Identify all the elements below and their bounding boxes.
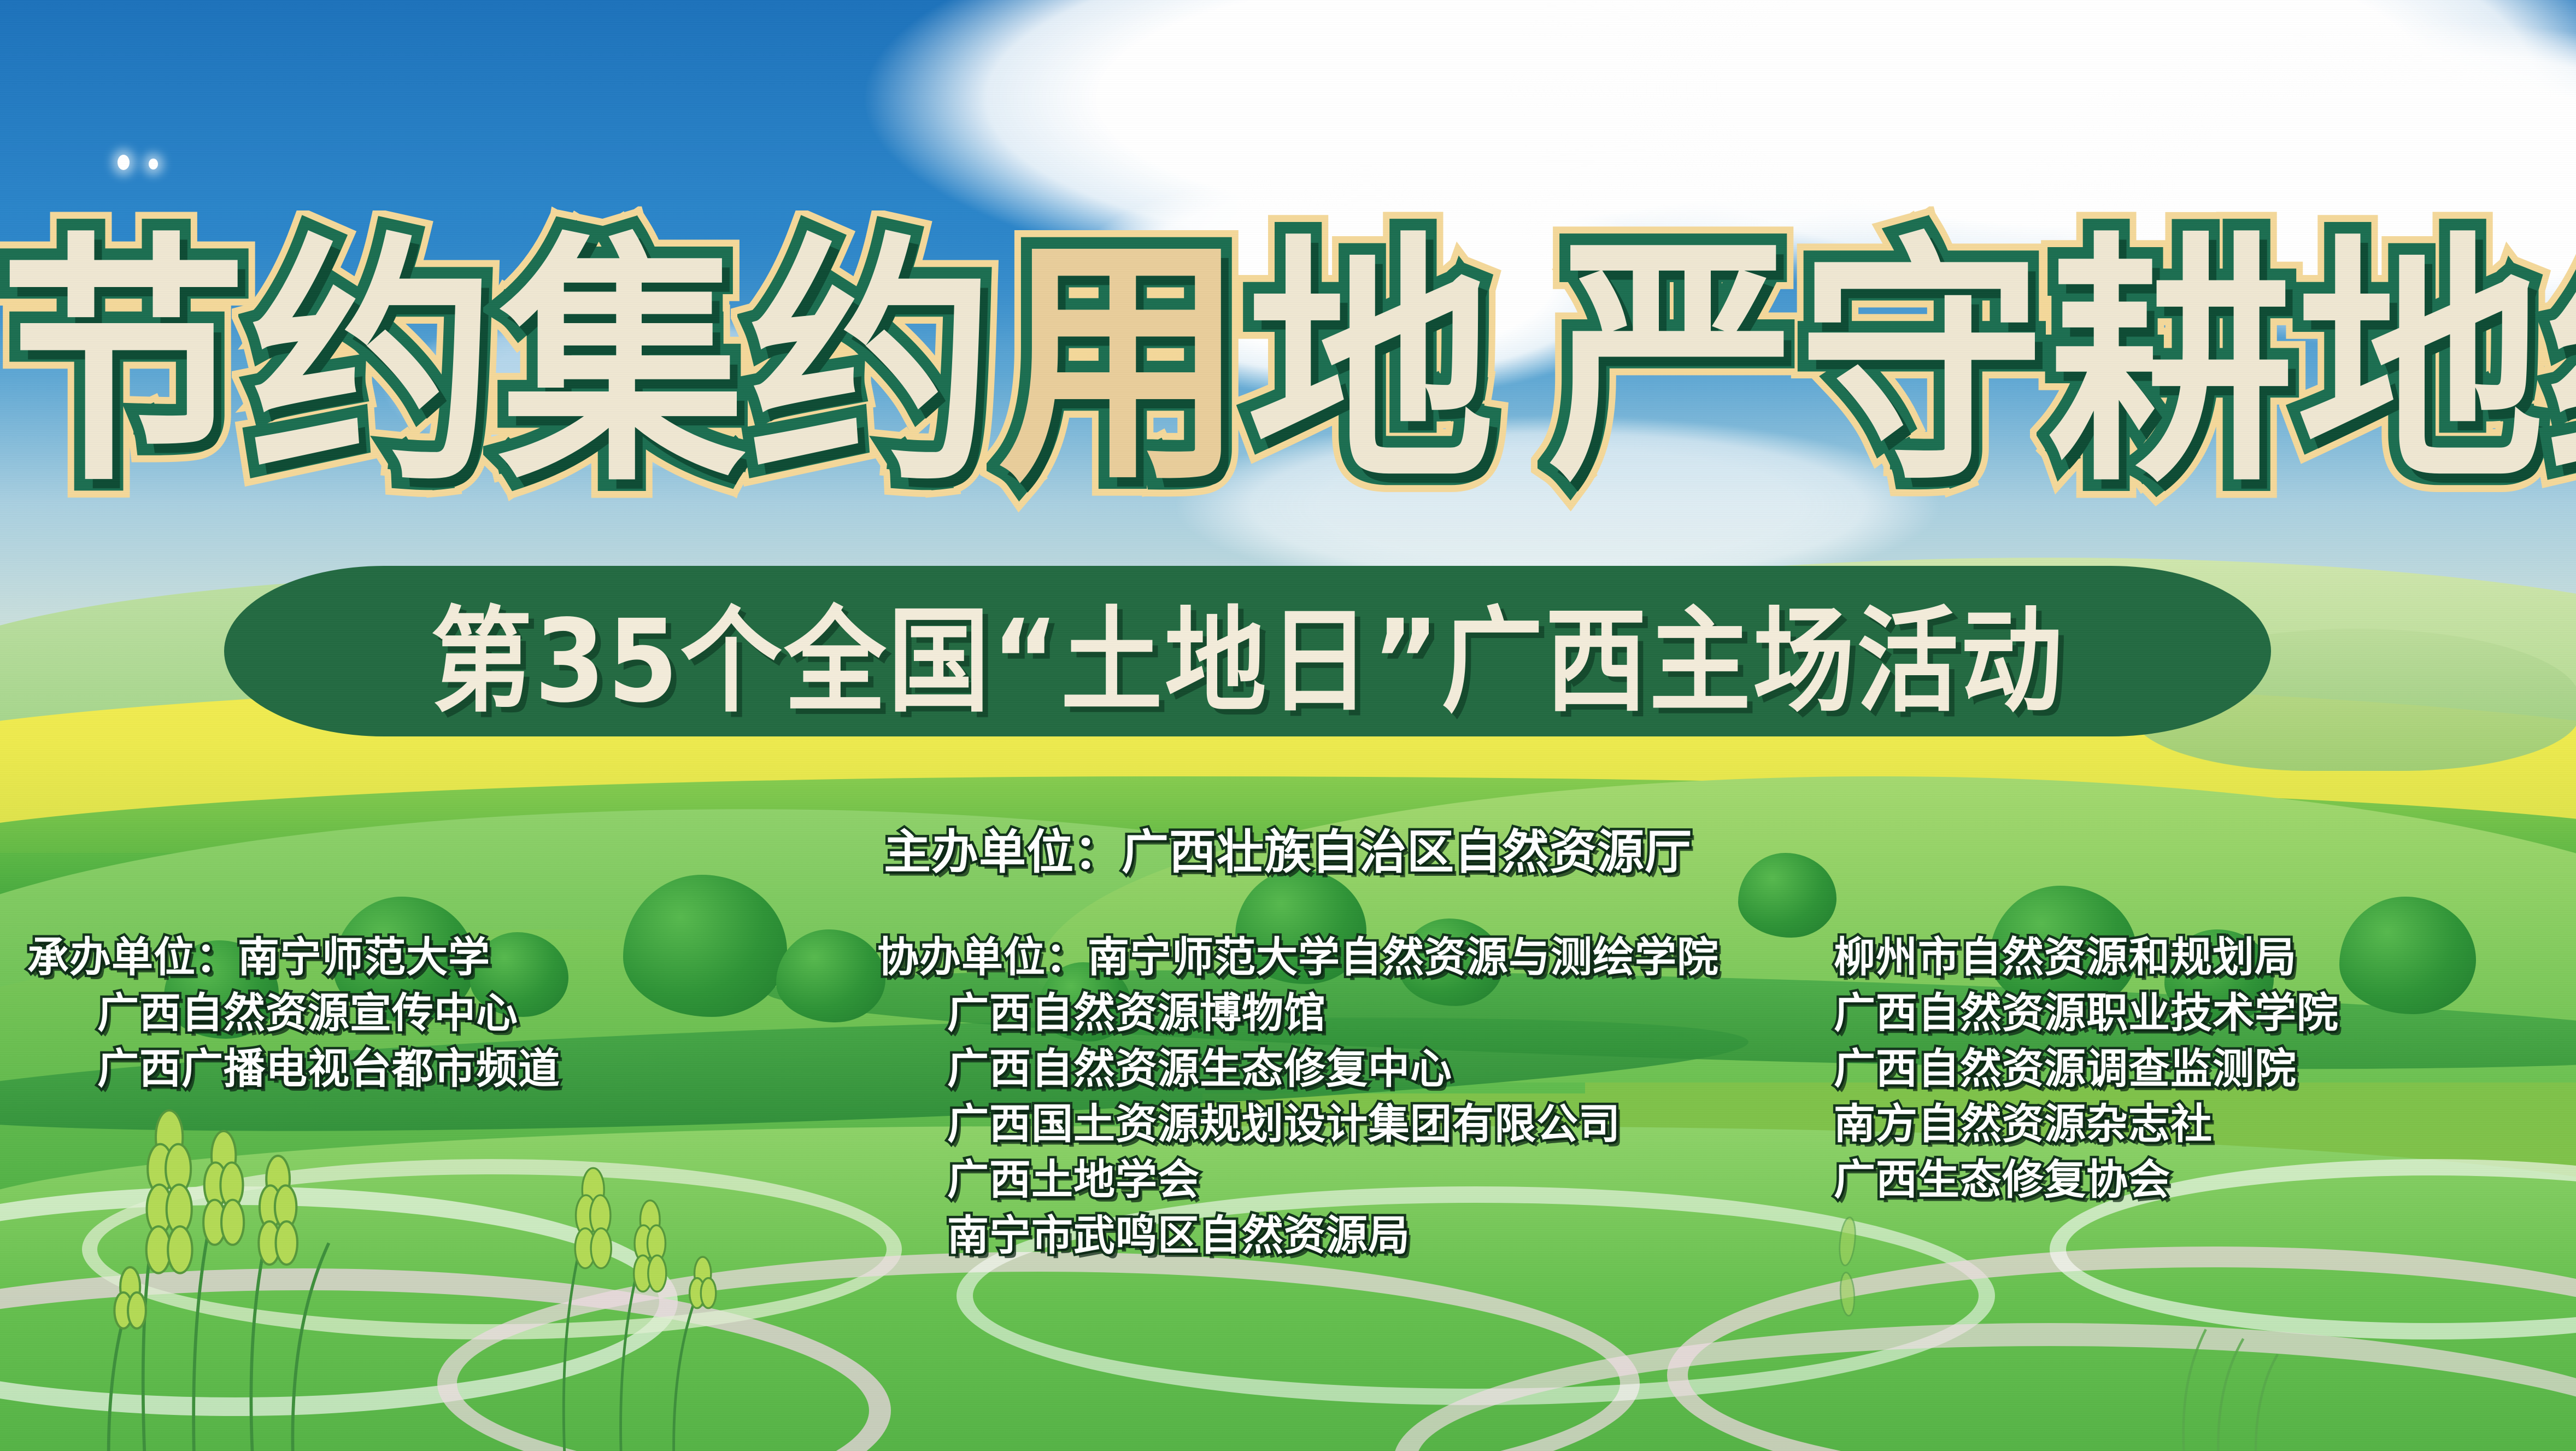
title-char-glyph-11: 红 [2546,233,2576,495]
co-organizer-right-line-1: 广西自然资源职业技术学院 [1834,985,2339,1041]
wheat-stalks-midleft [415,1115,842,1451]
subtitle-text: 第35个全国“土地日”广西主场活动 [431,569,2064,734]
title-char-3: 约 约 [748,241,995,488]
poster-canvas: 节 节 约 约 集 集 约 约 用 用 地 地 严 严 守 守 [0,0,2576,1451]
subtitle-banner: 第35个全国“土地日”广西主场活动 [224,566,2271,736]
grass-blades-right [2050,1236,2399,1451]
organizer-line-2: 广西广播电视台都市频道 [27,1041,560,1097]
title-char-4: 用 用 [998,241,1245,488]
title-char-glyph-8: 守 [1798,233,2045,495]
title-char-glyph-5: 地 [1247,233,1494,495]
title-char-11: 红 红 [2546,241,2576,488]
co-organizer-right-line-4: 广西生态修复协会 [1834,1152,2339,1208]
title-char-glyph-0: 节 [0,233,247,495]
co-organizer-column: 协办单位：南宁师范大学自然资源与测绘学院 广西自然资源博物馆 广西自然资源生态修… [877,929,1719,1263]
organizer-line-0: 承办单位：南宁师范大学 [27,929,560,985]
co-organizer-column-right: 柳州市自然资源和规划局 广西自然资源职业技术学院 广西自然资源调查监测院 南方自… [1834,929,2339,1208]
title-char-0: 节 节 [0,241,247,488]
co-organizer-line-5: 南宁市武鸣区自然资源局 [877,1208,1719,1263]
organizer-line-1: 广西自然资源宣传中心 [27,985,560,1041]
title-char-1: 约 约 [249,241,496,488]
main-title: 节 节 约 约 集 集 约 约 用 用 地 地 严 严 守 守 [0,241,2576,488]
title-char-9: 耕 耕 [2047,241,2295,488]
co-organizer-line-4: 广西土地学会 [877,1152,1719,1208]
title-char-10: 地 地 [2297,241,2544,488]
title-char-5: 地 地 [1247,241,1494,488]
host-organization-line: 主办单位：广西壮族自治区自然资源厅 [0,814,2576,882]
co-organizer-right-line-2: 广西自然资源调查监测院 [1834,1041,2339,1097]
host-text: 主办单位：广西壮族自治区自然资源厅 [884,825,1692,880]
co-organizer-line-0: 协办单位：南宁师范大学自然资源与测绘学院 [877,929,1719,985]
title-char-glyph-4: 用 [998,233,1245,495]
title-char-glyph-2: 集 [499,233,746,495]
co-organizer-right-line-3: 南方自然资源杂志社 [1834,1096,2339,1152]
co-organizer-right-line-0: 柳州市自然资源和规划局 [1834,929,2339,985]
title-char-8: 守 守 [1798,241,2045,488]
title-char-glyph-3: 约 [748,233,995,495]
grass-blades-midright [1733,1192,1962,1378]
co-organizer-line-3: 广西国土资源规划设计集团有限公司 [877,1096,1719,1152]
title-char-2: 集 集 [499,241,746,488]
title-char-glyph-10: 地 [2297,233,2544,495]
title-char-glyph-7: 严 [1548,233,1795,495]
title-char-glyph-9: 耕 [2047,233,2295,495]
title-char-7: 严 严 [1548,241,1795,488]
co-organizer-line-2: 广西自然资源生态修复中心 [877,1041,1719,1097]
co-organizer-line-1: 广西自然资源博物馆 [877,985,1719,1041]
title-char-glyph-1: 约 [249,233,496,495]
organizer-column: 承办单位：南宁师范大学 广西自然资源宣传中心 广西广播电视台都市频道 [27,929,560,1096]
